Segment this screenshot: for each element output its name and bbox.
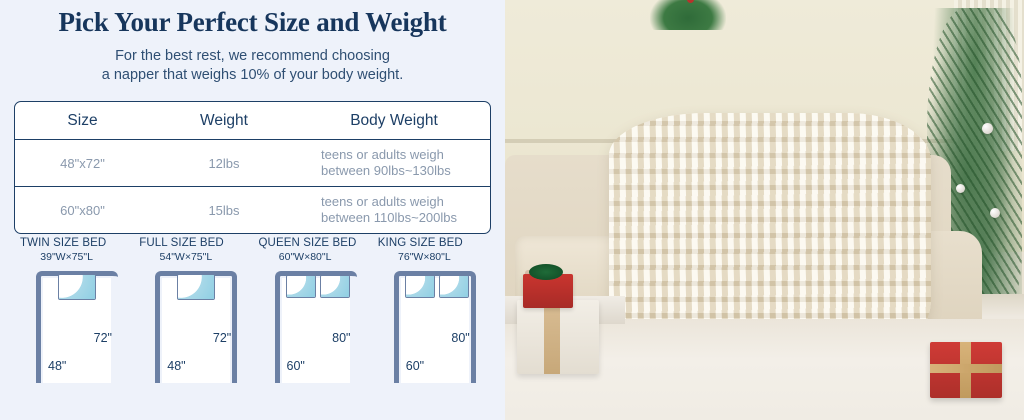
wreath-berry-icon [687,0,694,3]
body-weight-line-1: teens or adults weigh [321,194,490,210]
bed-dimensions: 54"W×75"L [133,251,252,263]
bed-figure: 80" 60" [275,271,357,383]
cell-weight: 12lbs [150,140,298,186]
pillow-icon [58,274,96,300]
bed-size-diagrams: TWIN SIZE BED 39"W×75"L 72" 48" FULL SIZ… [14,237,491,383]
tree-ornament [956,184,965,193]
bed-title: FULL SIZE BED [133,237,252,249]
subtitle-line-1: For the best rest, we recommend choosing [0,47,505,66]
bed-diagram-full: FULL SIZE BED 54"W×75"L 72" 48" [133,237,252,383]
bed-length-label: 72" [94,331,112,345]
pillow-icon [177,274,215,300]
bed-length-label: 80" [332,331,350,345]
body-weight-line-1: teens or adults weigh [321,147,490,163]
pillow-icon [439,275,469,298]
cell-size: 48"x72" [15,140,150,186]
bed-width-label: 48" [167,359,185,373]
subtitle-line-2: a napper that weighs 10% of your body we… [0,66,505,85]
bed-dimensions: 39"W×75"L [14,251,133,263]
page-title: Pick Your Perfect Size and Weight [0,0,505,38]
subtitle: For the best rest, we recommend choosing… [0,47,505,85]
table-header-row: Size Weight Body Weight [15,102,490,140]
bed-width-label: 60" [287,359,305,373]
cell-size: 60"x80" [15,187,150,233]
bed-dimensions: 60"W×80"L [253,251,372,263]
gift-box-white [517,300,599,374]
bed-figure: 72" 48" [155,271,237,383]
column-header-body-weight: Body Weight [298,102,490,139]
bed-diagram-twin: TWIN SIZE BED 39"W×75"L 72" 48" [14,237,133,383]
bed-diagram-king: KING SIZE BED 76"W×80"L 80" 60" [372,237,491,383]
cell-weight: 15lbs [150,187,298,233]
info-panel: Pick Your Perfect Size and Weight For th… [0,0,505,420]
pillow-icon [405,275,435,298]
bed-length-label: 80" [451,331,469,345]
cell-body-weight: teens or adults weigh between 110lbs~200… [298,187,490,233]
bed-width-label: 60" [406,359,424,373]
size-weight-table: Size Weight Body Weight 48"x72" 12lbs te… [14,101,491,234]
product-lifestyle-photo [505,0,1024,420]
pillow-icon [286,275,316,298]
column-header-size: Size [15,102,150,139]
table-row: 48"x72" 12lbs teens or adults weigh betw… [15,140,490,187]
gift-box-red-large [930,342,1002,398]
bed-title: KING SIZE BED [372,237,491,249]
bed-width-label: 48" [48,359,66,373]
bed-length-label: 72" [213,331,231,345]
bed-dimensions: 76"W×80"L [372,251,491,263]
column-header-weight: Weight [150,102,298,139]
bed-figure: 72" 48" [36,271,118,383]
size-weight-infographic: Pick Your Perfect Size and Weight For th… [0,0,1024,420]
wreath-decoration [650,0,726,30]
bed-figure: 80" 60" [394,271,476,383]
gift-bow-icon [529,264,563,280]
body-weight-line-2: between 110lbs~200lbs [321,210,490,226]
pillow-icon [320,275,350,298]
table-row: 60"x80" 15lbs teens or adults weigh betw… [15,187,490,233]
bed-diagram-queen: QUEEN SIZE BED 60"W×80"L 80" 60" [253,237,372,383]
body-weight-line-2: between 90lbs~130lbs [321,163,490,179]
tree-ornament [990,208,1000,218]
bed-title: TWIN SIZE BED [14,237,133,249]
bed-title: QUEEN SIZE BED [253,237,372,249]
cell-body-weight: teens or adults weigh between 90lbs~130l… [298,140,490,186]
